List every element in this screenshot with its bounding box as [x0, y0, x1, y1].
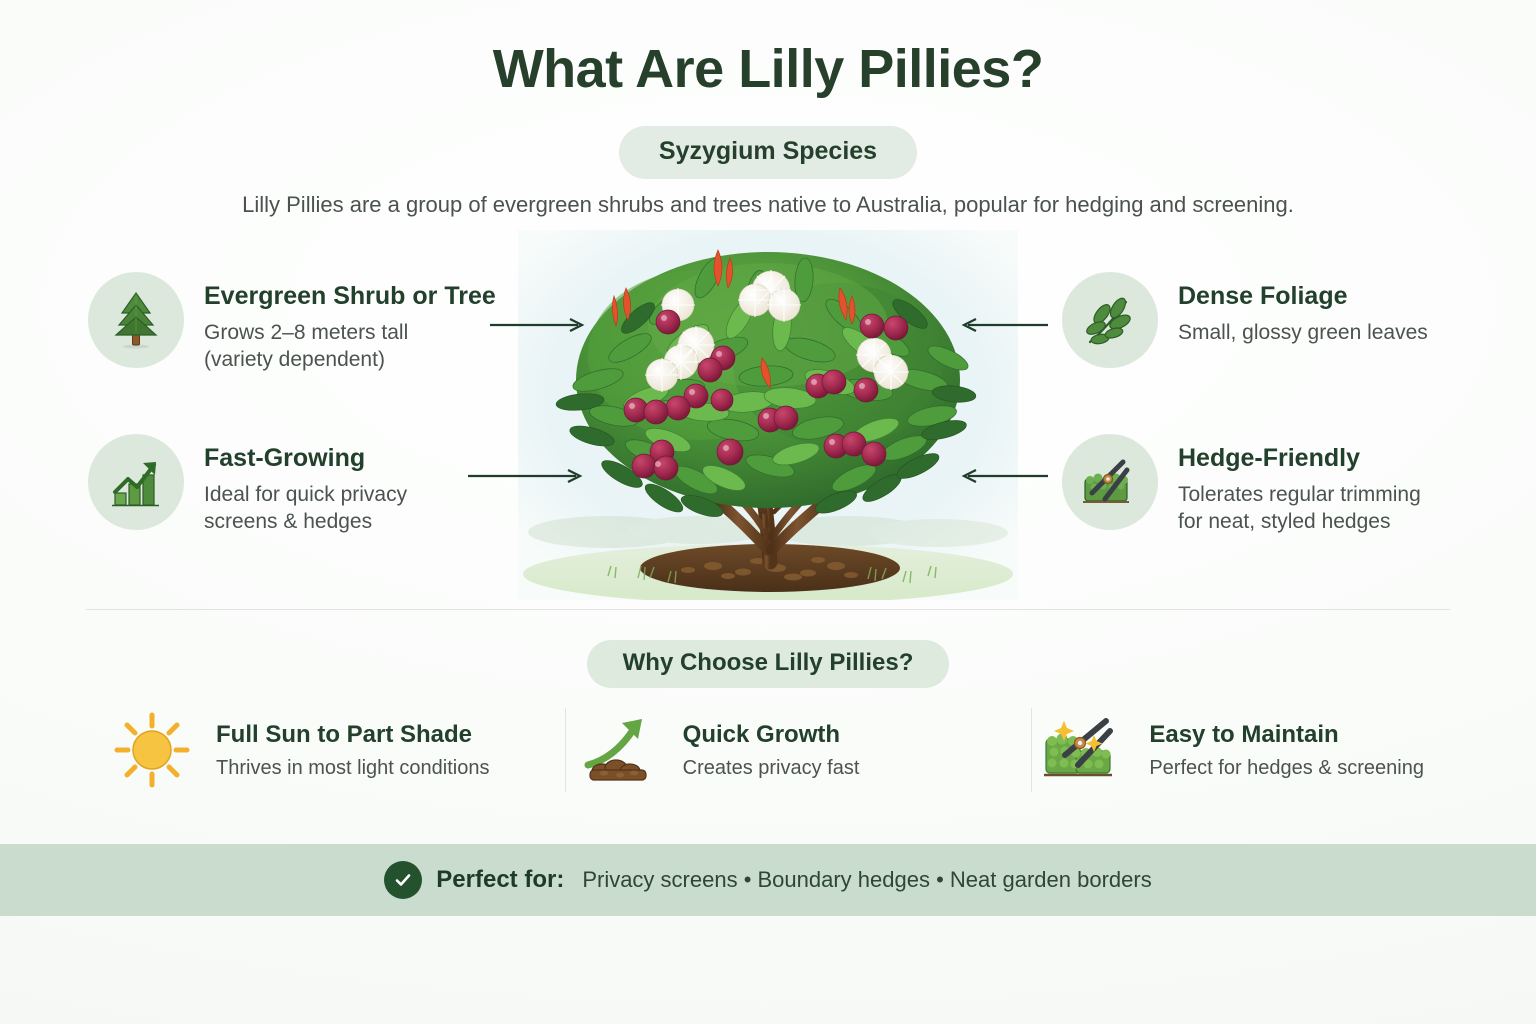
benefit-text-full-sun: Full Sun to Part Shade Thrives in most l… — [216, 721, 489, 780]
benefits-row: Full Sun to Part Shade Thrives in most l… — [100, 702, 1500, 798]
benefit-text-quick-growth: Quick Growth Creates privacy fast — [683, 721, 860, 780]
benefit-desc: Creates privacy fast — [683, 757, 860, 780]
feature-desc-line-2: (variety dependent) — [204, 346, 496, 373]
page-title: What Are Lilly Pillies? — [0, 38, 1536, 100]
benefit-easy-to-maintain: Easy to Maintain Perfect for hedges & sc… — [1033, 704, 1500, 796]
banner-text: Privacy screens • Boundary hedges • Neat… — [582, 867, 1151, 893]
benefit-quick-growth: Quick Growth Creates privacy fast — [567, 704, 1034, 796]
feature-dense-foliage: Dense Foliage Small, glossy green leaves — [1062, 272, 1522, 368]
arrow-right-top — [960, 316, 1048, 334]
benefit-title: Quick Growth — [683, 721, 860, 749]
leaf-sprig-icon — [1062, 272, 1158, 368]
sun-icon — [106, 704, 198, 796]
section-divider — [86, 609, 1450, 610]
perfect-for-banner: Perfect for: Privacy screens • Boundary … — [0, 844, 1536, 916]
hedge-shears-icon — [1062, 434, 1158, 530]
banner-label: Perfect for: — [436, 866, 564, 894]
check-circle-icon — [384, 861, 422, 899]
benefit-desc: Perfect for hedges & screening — [1149, 757, 1424, 780]
why-choose-badge: Why Choose Lilly Pillies? — [587, 640, 950, 688]
arrow-right-bottom — [960, 467, 1048, 485]
feature-desc-line-1: Ideal for quick privacy — [204, 481, 407, 508]
benefit-title: Easy to Maintain — [1149, 721, 1424, 749]
species-badge: Syzygium Species — [619, 126, 917, 179]
lilly-pilly-shrub-illustration — [518, 230, 1018, 600]
species-badge-container: Syzygium Species — [0, 126, 1536, 179]
infographic-canvas: What Are Lilly Pillies? Syzygium Species… — [0, 0, 1536, 1024]
page-subtitle: Lilly Pillies are a group of evergreen s… — [0, 192, 1536, 218]
feature-evergreen-shrub-or-tree: Evergreen Shrub or Tree Grows 2–8 meters… — [88, 272, 558, 374]
why-choose-badge-container: Why Choose Lilly Pillies? — [0, 640, 1536, 688]
benefit-desc: Thrives in most light conditions — [216, 757, 489, 780]
feature-desc-line-2: screens & hedges — [204, 508, 407, 535]
benefit-title: Full Sun to Part Shade — [216, 721, 489, 749]
feature-title: Dense Foliage — [1178, 282, 1428, 311]
feature-text-evergreen: Evergreen Shrub or Tree Grows 2–8 meters… — [204, 272, 496, 374]
benefit-text-easy-to-maintain: Easy to Maintain Perfect for hedges & sc… — [1149, 721, 1424, 780]
feature-text-dense-foliage: Dense Foliage Small, glossy green leaves — [1178, 272, 1428, 346]
growth-arrow-soil-icon — [573, 704, 665, 796]
feature-text-hedge-friendly: Hedge-Friendly Tolerates regular trimmin… — [1178, 434, 1421, 536]
evergreen-tree-icon — [88, 272, 184, 368]
feature-title: Hedge-Friendly — [1178, 444, 1421, 473]
growth-chart-icon — [88, 434, 184, 530]
feature-desc-line-1: Tolerates regular trimming — [1178, 481, 1421, 508]
feature-text-fast-growing: Fast-Growing Ideal for quick privacy scr… — [204, 434, 407, 536]
feature-desc-line-1: Small, glossy green leaves — [1178, 319, 1428, 346]
feature-title: Evergreen Shrub or Tree — [204, 282, 496, 311]
feature-hedge-friendly: Hedge-Friendly Tolerates regular trimmin… — [1062, 434, 1522, 536]
feature-desc-line-1: Grows 2–8 meters tall — [204, 319, 496, 346]
benefit-full-sun-to-part-shade: Full Sun to Part Shade Thrives in most l… — [100, 704, 567, 796]
hedge-trimming-sparkle-icon — [1039, 704, 1131, 796]
feature-desc-line-2: for neat, styled hedges — [1178, 508, 1421, 535]
feature-fast-growing: Fast-Growing Ideal for quick privacy scr… — [88, 434, 558, 536]
feature-title: Fast-Growing — [204, 444, 407, 473]
